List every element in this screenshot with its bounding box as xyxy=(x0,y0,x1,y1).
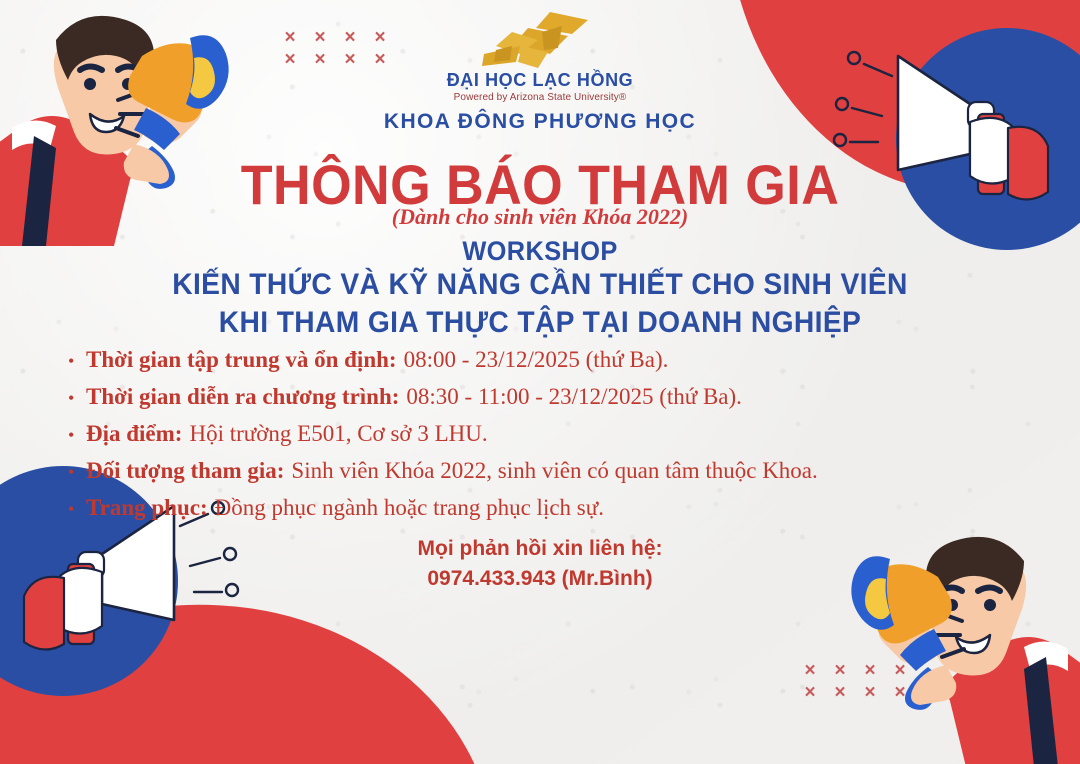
detail-value: 08:30 - 11:00 - 23/12/2025 (thứ Ba). xyxy=(406,381,742,412)
bullet-icon: • xyxy=(68,420,86,451)
detail-label: Thời gian tập trung và ổn định: xyxy=(86,344,397,375)
contact-phone: 0974.433.943 (Mr.Bình) xyxy=(0,564,1080,594)
powered-by-text: Powered by Arizona State University® xyxy=(0,92,1080,103)
faculty-name: KHOA ĐÔNG PHƯƠNG HỌC xyxy=(0,110,1080,134)
bullet-icon: • xyxy=(68,346,86,377)
detail-value: Sinh viên Khóa 2022, sinh viên có quan t… xyxy=(291,455,817,486)
detail-label: Trang phục: xyxy=(86,492,208,523)
workshop-title-line1: KIẾN THỨC VÀ KỸ NĂNG CẦN THIẾT CHO SINH … xyxy=(32,268,1047,302)
workshop-title-line2: KHI THAM GIA THỰC TẬP TẠI DOANH NGHIỆP xyxy=(32,306,1047,340)
details-list: • Thời gian tập trung và ổn định: 08:00 … xyxy=(68,344,1020,529)
list-item: • Thời gian tập trung và ổn định: 08:00 … xyxy=(68,344,1020,377)
detail-label: Thời gian diễn ra chương trình: xyxy=(86,381,399,412)
list-item: • Thời gian diễn ra chương trình: 08:30 … xyxy=(68,381,1020,414)
list-item: • Đối tượng tham gia: Sinh viên Khóa 202… xyxy=(68,455,1020,488)
logo-header: ĐẠI HỌC LẠC HỒNG Powered by Arizona Stat… xyxy=(0,10,1080,134)
bullet-icon: • xyxy=(68,383,86,414)
detail-label: Địa điểm: xyxy=(86,418,182,449)
contact-prompt: Mọi phản hồi xin liên hệ: xyxy=(0,534,1080,564)
detail-value: 08:00 - 23/12/2025 (thứ Ba). xyxy=(404,344,669,375)
contact-block: Mọi phản hồi xin liên hệ: 0974.433.943 (… xyxy=(0,534,1080,594)
bullet-icon: • xyxy=(68,494,86,525)
list-item: • Trang phục: Đồng phục ngành hoặc trang… xyxy=(68,492,1020,525)
detail-value: Hội trường E501, Cơ sở 3 LHU. xyxy=(189,418,487,449)
list-item: • Địa điểm: Hội trường E501, Cơ sở 3 LHU… xyxy=(68,418,1020,451)
page-subtitle: (Dành cho sinh viên Khóa 2022) xyxy=(0,204,1080,230)
bullet-icon: • xyxy=(68,457,86,488)
poster-canvas: × × × × × × × × × × × × × × × × xyxy=(0,0,1080,764)
university-name: ĐẠI HỌC LẠC HỒNG xyxy=(0,70,1080,91)
workshop-label: WORKSHOP xyxy=(32,236,1047,267)
detail-label: Đối tượng tham gia: xyxy=(86,455,284,486)
detail-value: Đồng phục ngành hoặc trang phục lịch sự. xyxy=(215,492,604,523)
lac-hong-bird-mark-icon xyxy=(476,10,604,72)
